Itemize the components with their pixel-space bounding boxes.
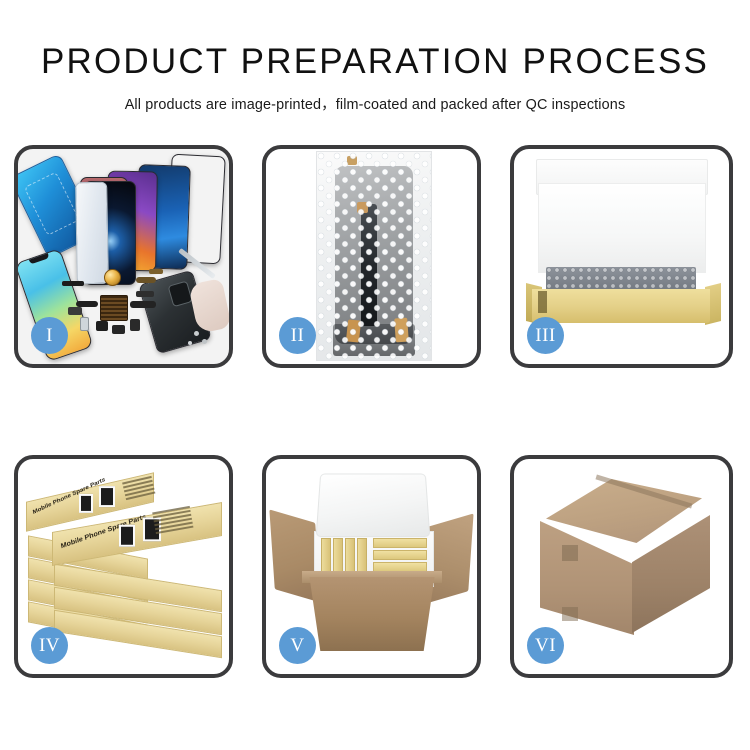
step-badge-6: VI xyxy=(527,627,564,664)
button-flex-icon xyxy=(68,307,82,315)
page-header: PRODUCT PREPARATION PROCESS All products… xyxy=(0,0,750,114)
camera-module-icon xyxy=(112,325,125,334)
carton-flap-tab-icon xyxy=(562,545,578,561)
antenna-flex-icon xyxy=(136,291,154,297)
step-badge-5: V xyxy=(279,627,316,664)
box-artwork-swatch xyxy=(119,525,135,547)
screw-icon xyxy=(194,331,199,336)
speaker-module-icon xyxy=(96,321,108,331)
step-badge-3: III xyxy=(527,317,564,354)
flex-cable-icon xyxy=(62,281,84,286)
copper-coil-icon xyxy=(104,269,121,286)
page-title: PRODUCT PREPARATION PROCESS xyxy=(0,42,750,82)
yellow-box-icon xyxy=(373,550,427,560)
step-card-3[interactable]: III xyxy=(510,145,733,368)
product-preparation-process-page: PRODUCT PREPARATION PROCESS All products… xyxy=(0,0,750,750)
sim-tray-icon xyxy=(80,317,89,331)
bubble-wrap-bag-icon xyxy=(316,151,432,361)
screw-icon xyxy=(188,341,192,345)
step-card-2[interactable]: II xyxy=(262,145,481,368)
vibrator-module-icon xyxy=(130,319,140,331)
screen-protector-icon xyxy=(75,182,109,285)
chip-grid-icon xyxy=(100,295,128,321)
step-card-6[interactable]: VI xyxy=(510,455,733,678)
page-subtitle: All products are image-printed，film-coat… xyxy=(0,93,750,114)
box-artwork-swatch xyxy=(99,486,115,507)
step-badge-4: IV xyxy=(31,627,68,664)
step-badge-1: I xyxy=(31,317,68,354)
box-artwork-swatch xyxy=(79,494,93,513)
process-steps-grid: I II xyxy=(14,145,737,678)
connector-icon xyxy=(136,277,156,283)
kraft-box-front-icon xyxy=(532,289,710,323)
step-card-5[interactable]: V xyxy=(262,455,481,678)
foam-sheet-icon xyxy=(538,183,706,273)
flex-cable-icon xyxy=(130,301,156,308)
carton-top-face-icon xyxy=(546,479,702,543)
step-card-1[interactable]: I xyxy=(14,145,233,368)
step-card-4[interactable]: Mobile Phone Spare Parts Mobile Phone Sp… xyxy=(14,455,233,678)
carton-body-icon xyxy=(304,577,440,651)
carton-flap-tab-icon xyxy=(562,607,578,621)
step-badge-2: II xyxy=(279,317,316,354)
bubble-texture-icon xyxy=(317,152,431,360)
connector-icon xyxy=(149,269,163,274)
box-label-text: Mobile Phone Spare Parts xyxy=(32,477,105,516)
yellow-box-icon xyxy=(373,538,427,548)
box-tab-icon xyxy=(538,291,547,313)
screw-icon xyxy=(202,339,207,344)
foam-cooler-lid-icon xyxy=(316,474,431,538)
